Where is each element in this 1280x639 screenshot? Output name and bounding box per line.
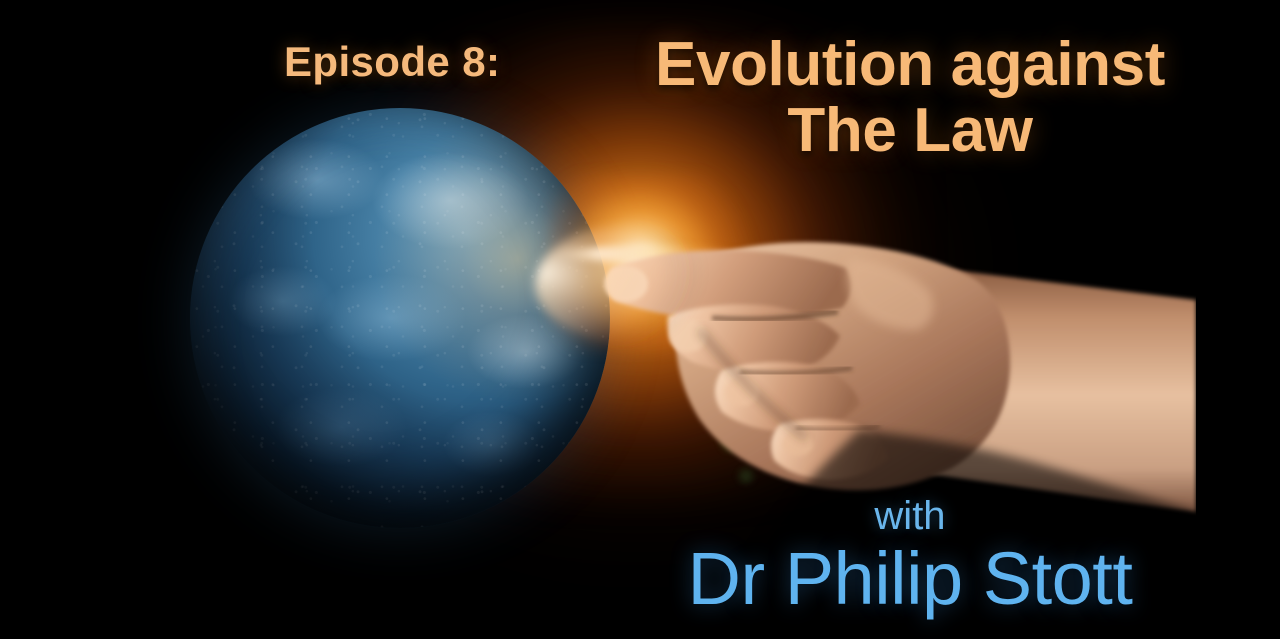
- episode-title-card: Episode 8: Evolution against The Law wit…: [0, 0, 1280, 639]
- episode-label: Episode 8:: [284, 38, 500, 86]
- globe-sphere: [190, 108, 610, 528]
- title-line-2: The Law: [600, 98, 1220, 164]
- page-title: Evolution against The Law: [600, 32, 1220, 165]
- presenter-prefix: with: [600, 495, 1220, 537]
- presenter-block: with Dr Philip Stott: [600, 495, 1220, 618]
- lens-flare-dot-icon: [736, 466, 756, 486]
- presenter-name: Dr Philip Stott: [600, 541, 1220, 618]
- earth-globe: [190, 108, 610, 528]
- lens-flare-dot-icon: [718, 428, 744, 454]
- title-line-1: Evolution against: [600, 32, 1220, 98]
